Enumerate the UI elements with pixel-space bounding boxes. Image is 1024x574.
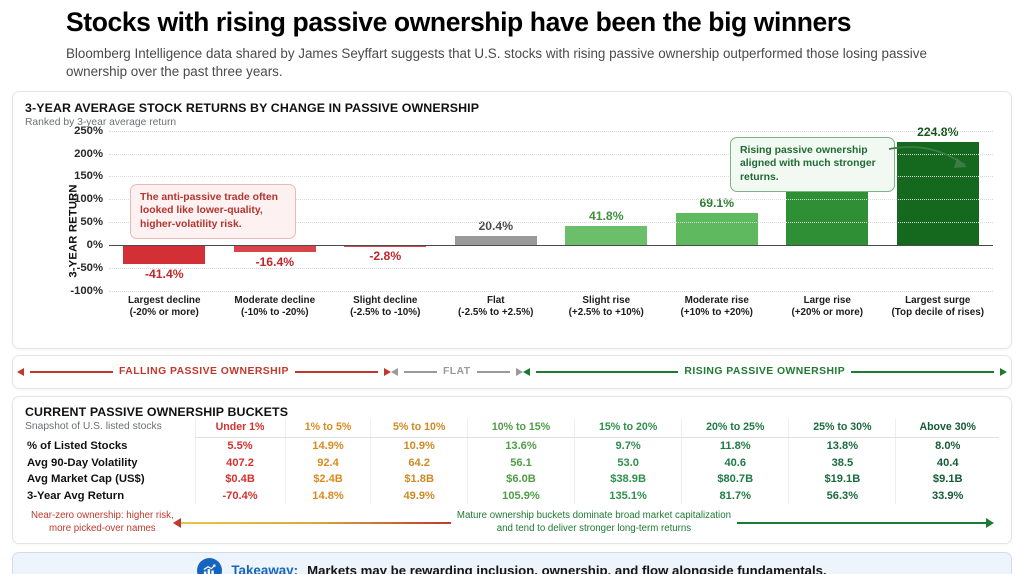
- x-axis-label: Slight rise(+2.5% to +10%): [551, 295, 662, 320]
- band-line-left: [30, 371, 113, 373]
- y-axis-ticks: 250%200%150%100%50%0%-50%-100%: [43, 131, 103, 291]
- table-cell: 38.5: [789, 454, 896, 471]
- chart-card: 3-YEAR AVERAGE STOCK RETURNS BY CHANGE I…: [12, 91, 1012, 349]
- table-cell: 13.6%: [467, 437, 574, 454]
- note-left: Near-zero ownership: higher risk, more p…: [31, 510, 174, 535]
- table-column-header: 25% to 30%: [789, 419, 896, 438]
- bar-value-label: 20.4%: [441, 219, 552, 233]
- bar[interactable]: [123, 245, 205, 264]
- table-row: Avg Market Cap (US$)$0.4B$2.4B$1.8B$6.0B…: [25, 471, 999, 488]
- bar-slot: 41.8%: [551, 131, 662, 291]
- table-column-header: 1% to 5%: [285, 419, 371, 438]
- table-cell: -70.4%: [195, 487, 285, 504]
- gradient-arrow-left: [180, 522, 451, 524]
- callout-anti-passive: The anti-passive trade often looked like…: [130, 184, 296, 239]
- table-row: 3-Year Avg Return-70.4%14.8%49.9%105.9%1…: [25, 487, 999, 504]
- table-cell: 64.2: [371, 454, 467, 471]
- table-cell: 56.1: [467, 454, 574, 471]
- table-cell: 105.9%: [467, 487, 574, 504]
- y-tick-label: -50%: [43, 262, 103, 274]
- bar-chart-plot: 3-YEAR RETURN 250%200%150%100%50%0%-50%-…: [25, 131, 999, 331]
- bar-value-label: -41.4%: [109, 267, 220, 281]
- table-row-label: Avg Market Cap (US$): [25, 471, 195, 488]
- callout-arrow-icon: [887, 141, 987, 183]
- table-column-header: Above 30%: [896, 419, 999, 438]
- table-cell: 13.8%: [789, 437, 896, 454]
- band-line-right: [851, 371, 994, 373]
- arrow-right-icon: [384, 368, 391, 376]
- table-cell: 11.8%: [682, 437, 789, 454]
- bar-value-label: 224.8%: [883, 125, 994, 139]
- table-cell: 33.9%: [896, 487, 999, 504]
- x-axis-label: Large rise(+20% or more): [772, 295, 883, 320]
- bar-value-label: -2.8%: [330, 249, 441, 263]
- note-right: Mature ownership buckets dominate broad …: [457, 510, 731, 535]
- table-cell: 407.2: [195, 454, 285, 471]
- table-cell: 92.4: [285, 454, 371, 471]
- table-row: Avg 90-Day Volatility407.292.464.256.153…: [25, 454, 999, 471]
- x-axis-label: Flat(-2.5% to +2.5%): [441, 295, 552, 320]
- x-axis-label: Slight decline(-2.5% to -10%): [330, 295, 441, 320]
- y-tick-label: 50%: [43, 216, 103, 228]
- takeaway-bar: Takeaway: Markets may be rewarding inclu…: [12, 552, 1012, 574]
- arrow-left-icon: [391, 368, 398, 376]
- y-tick-label: 0%: [43, 239, 103, 251]
- x-axis-label: Moderate rise(+10% to +20%): [662, 295, 773, 320]
- arrow-left-icon: [17, 368, 24, 376]
- y-tick-label: 200%: [43, 148, 103, 160]
- band-line-left: [536, 371, 679, 373]
- table-cell: 49.9%: [371, 487, 467, 504]
- page-subtitle: Bloomberg Intelligence data shared by Ja…: [66, 45, 946, 82]
- bar-slot: -2.8%: [330, 131, 441, 291]
- band-rising: RISING PASSIVE OWNERSHIP: [523, 366, 1007, 377]
- band-line-right: [295, 371, 378, 373]
- band-flat-label: FLAT: [443, 366, 471, 377]
- table-cell: $0.4B: [195, 471, 285, 488]
- table-cell: 9.7%: [575, 437, 682, 454]
- grid-line: [109, 131, 993, 132]
- table-card: CURRENT PASSIVE OWNERSHIP BUCKETS Snapsh…: [12, 396, 1012, 544]
- arrow-right-icon: [516, 368, 523, 376]
- chart-section-subtitle: Ranked by 3-year average return: [25, 117, 999, 128]
- grid-line: [109, 291, 993, 292]
- table-section-title: CURRENT PASSIVE OWNERSHIP BUCKETS: [25, 405, 999, 419]
- y-tick-label: -100%: [43, 285, 103, 297]
- band-rising-label: RISING PASSIVE OWNERSHIP: [684, 366, 845, 377]
- callout-rising-passive: Rising passive ownership aligned with mu…: [730, 137, 895, 192]
- bar-slot: 20.4%: [441, 131, 552, 291]
- y-tick-label: 250%: [43, 125, 103, 137]
- table-cell: $6.0B: [467, 471, 574, 488]
- chart-section-title: 3-YEAR AVERAGE STOCK RETURNS BY CHANGE I…: [25, 101, 999, 115]
- ownership-buckets-table: Under 1%1% to 5%5% to 10%10% to 15%15% t…: [25, 419, 999, 504]
- grid-line: [109, 268, 993, 269]
- x-axis-label: Moderate decline(-10% to -20%): [220, 295, 331, 320]
- table-cell: 14.9%: [285, 437, 371, 454]
- band-falling-label: FALLING PASSIVE OWNERSHIP: [119, 366, 289, 377]
- table-cell: 10.9%: [371, 437, 467, 454]
- table-row-label: Avg 90-Day Volatility: [25, 454, 195, 471]
- table-cell: 81.7%: [682, 487, 789, 504]
- table-column-header: 10% to 15%: [467, 419, 574, 438]
- table-cell: 40.4: [896, 454, 999, 471]
- bar[interactable]: [565, 226, 647, 245]
- table-cell: $80.7B: [682, 471, 789, 488]
- bar[interactable]: [455, 236, 537, 245]
- x-axis-label: Largest decline(-20% or more): [109, 295, 220, 320]
- direction-band: FALLING PASSIVE OWNERSHIP FLAT RISING PA…: [12, 355, 1012, 389]
- table-body: % of Listed Stocks5.5%14.9%10.9%13.6%9.7…: [25, 437, 999, 504]
- bar-value-label: 41.8%: [551, 209, 662, 223]
- arrow-left-icon: [523, 368, 530, 376]
- bar[interactable]: [234, 245, 316, 252]
- table-column-header: Under 1%: [195, 419, 285, 438]
- takeaway-label: Takeaway:: [231, 563, 298, 574]
- zero-axis-line: [109, 245, 993, 246]
- band-line-left: [404, 371, 437, 373]
- table-cell: 5.5%: [195, 437, 285, 454]
- x-axis-labels: Largest decline(-20% or more)Moderate de…: [109, 295, 993, 320]
- table-cell: $19.1B: [789, 471, 896, 488]
- header: Stocks with rising passive ownership hav…: [12, 0, 1012, 82]
- table-column-header: 20% to 25%: [682, 419, 789, 438]
- table-cell: $38.9B: [575, 471, 682, 488]
- table-row-label: % of Listed Stocks: [25, 437, 195, 454]
- infographic-page: Stocks with rising passive ownership hav…: [0, 0, 1024, 574]
- x-axis-label: Largest surge(Top decile of rises): [883, 295, 994, 320]
- table-column-header: 5% to 10%: [371, 419, 467, 438]
- table-cell: 8.0%: [896, 437, 999, 454]
- table-cell: 14.8%: [285, 487, 371, 504]
- table-cell: 135.1%: [575, 487, 682, 504]
- table-cell: $2.4B: [285, 471, 371, 488]
- table-cell: 40.6: [682, 454, 789, 471]
- bar[interactable]: [676, 213, 758, 245]
- chart-bars-icon: [197, 558, 222, 574]
- band-line-right: [477, 371, 510, 373]
- table-cell: 56.3%: [789, 487, 896, 504]
- table-cell: 53.0: [575, 454, 682, 471]
- band-flat: FLAT: [391, 366, 523, 377]
- bar[interactable]: [786, 185, 868, 245]
- page-title: Stocks with rising passive ownership hav…: [66, 8, 958, 38]
- gradient-arrow-right: [737, 522, 987, 524]
- arrow-right-icon: [1000, 368, 1007, 376]
- table-header-row: Under 1%1% to 5%5% to 10%10% to 15%15% t…: [25, 419, 999, 438]
- table-cell: $9.1B: [896, 471, 999, 488]
- table-row-label: 3-Year Avg Return: [25, 487, 195, 504]
- table-row: % of Listed Stocks5.5%14.9%10.9%13.6%9.7…: [25, 437, 999, 454]
- table-column-header: 15% to 20%: [575, 419, 682, 438]
- band-falling: FALLING PASSIVE OWNERSHIP: [17, 366, 391, 377]
- takeaway-text: Markets may be rewarding inclusion, owne…: [307, 563, 827, 574]
- y-tick-label: 150%: [43, 170, 103, 182]
- table-cell: $1.8B: [371, 471, 467, 488]
- y-tick-label: 100%: [43, 193, 103, 205]
- gradient-annotation: Near-zero ownership: higher risk, more p…: [25, 510, 999, 535]
